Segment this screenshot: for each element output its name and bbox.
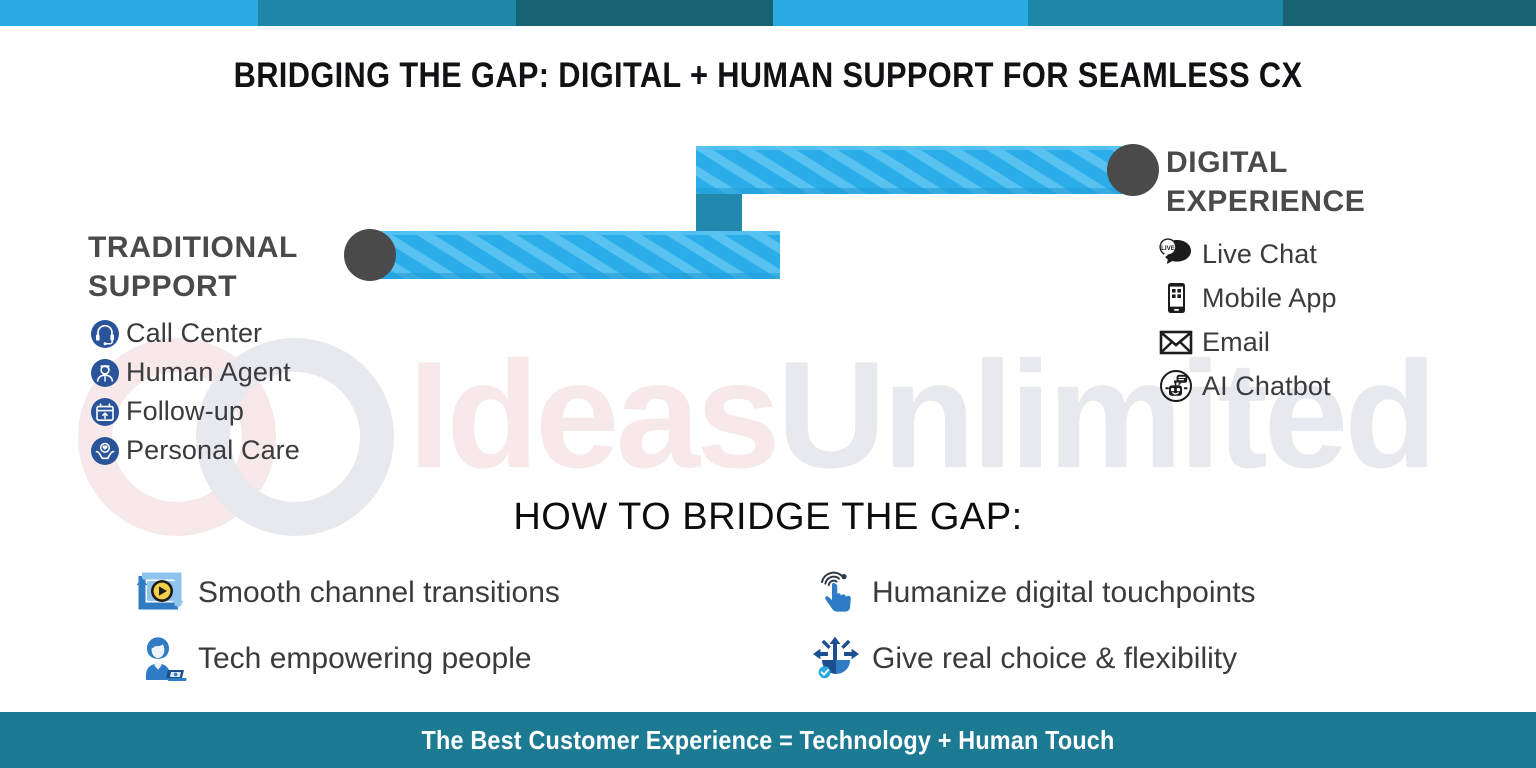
heading-line-1: DIGITAL [1166, 143, 1365, 182]
live-badge-text: LIVE [1161, 245, 1175, 252]
infographic-canvas: IdeasUnlimited BRIDGING THE GAP: DIGITAL… [0, 0, 1536, 768]
topbar-segment-6 [1283, 0, 1536, 26]
digital-experience-heading: DIGITAL EXPERIENCE [1166, 143, 1365, 221]
topbar-segment-3 [516, 0, 773, 26]
tip-label: Humanize digital touchpoints [872, 576, 1256, 610]
hands-heart-icon [84, 436, 126, 466]
support-agent-icon [84, 358, 126, 388]
tip-label: Smooth channel transitions [198, 576, 560, 610]
traditional-support-heading: TRADITIONAL SUPPORT [88, 228, 298, 306]
tip-smooth-channel-transitions[interactable]: Smooth channel transitions [126, 560, 560, 626]
tips-column-left: Smooth channel transitions [126, 560, 560, 692]
heading-line-2: EXPERIENCE [1166, 182, 1365, 221]
list-item-label: Call Center [126, 318, 262, 349]
list-item-email[interactable]: Email [1150, 320, 1337, 364]
mobile-phone-app-icon [1150, 278, 1202, 318]
calendar-followup-icon [84, 397, 126, 427]
robot-chatbot-icon [1150, 365, 1202, 407]
tip-give-real-choice-flexibility[interactable]: Give real choice & flexibility [800, 626, 1256, 692]
list-item-follow-up[interactable]: Follow-up [84, 392, 300, 431]
top-accent-bar [0, 0, 1536, 26]
tip-label: Tech empowering people [198, 642, 532, 676]
list-item-mobile-app[interactable]: Mobile App [1150, 276, 1337, 320]
list-item-label: Live Chat [1202, 239, 1317, 270]
list-item-live-chat[interactable]: LIVE Live Chat [1150, 232, 1337, 276]
list-item-personal-care[interactable]: Personal Care [84, 431, 300, 470]
bridge-upper-deck [696, 146, 1140, 194]
watermark-word-ideas: Ideas [408, 330, 777, 500]
multi-direction-arrows-icon [800, 628, 872, 690]
digital-experience-list: LIVE Live Chat Mobile App [1150, 232, 1337, 408]
footer-banner: The Best Customer Experience = Technolog… [0, 712, 1536, 768]
page-title: BRIDGING THE GAP: DIGITAL + HUMAN SUPPOR… [92, 56, 1444, 96]
topbar-segment-5 [1028, 0, 1283, 26]
list-item-label: Personal Care [126, 435, 300, 466]
bridge-section-heading: HOW TO BRIDGE THE GAP: [0, 496, 1536, 539]
touch-hand-ripple-icon [800, 562, 872, 624]
topbar-segment-2 [258, 0, 516, 26]
list-item-label: AI Chatbot [1202, 371, 1331, 402]
list-item-human-agent[interactable]: Human Agent [84, 353, 300, 392]
live-chat-bubble-icon: LIVE [1150, 234, 1202, 274]
traditional-support-list: Call Center Human Agent [84, 314, 300, 470]
bridge-endpoint-digital [1107, 144, 1159, 196]
heading-line-1: TRADITIONAL [88, 228, 298, 267]
agent-laptop-icon [126, 628, 198, 690]
tips-column-right: Humanize digital touchpoints [800, 560, 1256, 692]
heading-line-2: SUPPORT [88, 267, 298, 306]
tip-humanize-digital-touchpoints[interactable]: Humanize digital touchpoints [800, 560, 1256, 626]
tip-label: Give real choice & flexibility [872, 642, 1237, 676]
list-item-label: Follow-up [126, 396, 244, 427]
channel-transition-loop-icon [126, 562, 198, 624]
headset-icon [84, 319, 126, 349]
topbar-segment-1 [0, 0, 258, 26]
footer-text: The Best Customer Experience = Technolog… [421, 725, 1114, 756]
topbar-segment-4 [773, 0, 1028, 26]
list-item-label: Email [1202, 327, 1270, 358]
list-item-label: Human Agent [126, 357, 291, 388]
envelope-icon [1150, 324, 1202, 360]
list-item-ai-chatbot[interactable]: AI Chatbot [1150, 364, 1337, 408]
bridge-endpoint-traditional [344, 229, 396, 281]
list-item-label: Mobile App [1202, 283, 1337, 314]
bridge-lower-deck [370, 231, 780, 279]
list-item-call-center[interactable]: Call Center [84, 314, 300, 353]
tip-tech-empowering-people[interactable]: Tech empowering people [126, 626, 560, 692]
